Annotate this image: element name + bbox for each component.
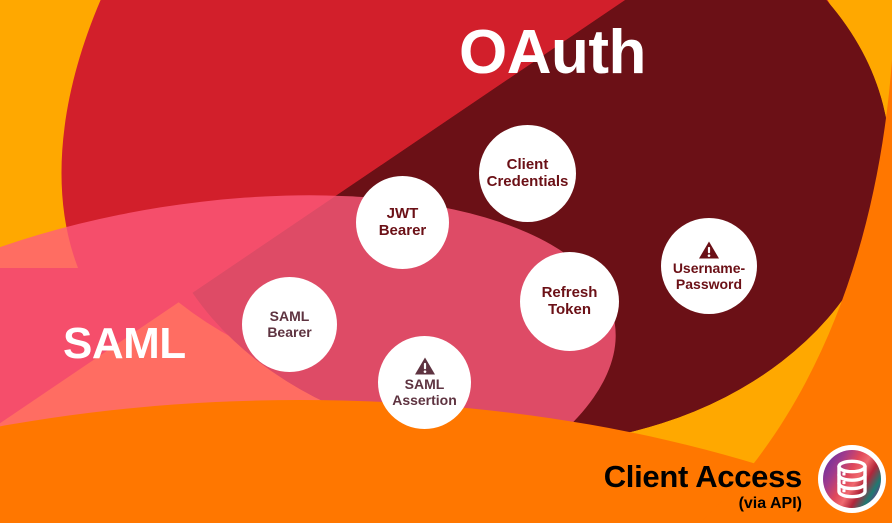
client-access-block: Client Access (via API) — [604, 461, 802, 513]
bubble-line-1: JWT — [384, 206, 422, 223]
bubble-saml-bearer[interactable]: SAML Bearer — [242, 277, 337, 372]
bubble-username-password[interactable]: Username- Password — [661, 218, 757, 314]
client-access-label: Client Access — [604, 461, 802, 494]
bubble-saml-assertion[interactable]: SAML Assertion — [378, 336, 471, 429]
warning-triangle-icon — [414, 356, 436, 376]
oauth-section-label: OAuth — [459, 22, 646, 84]
bubble-line-2: Bearer — [376, 223, 430, 240]
bubble-line-1: Refresh — [539, 285, 601, 302]
warning-triangle-icon — [698, 240, 720, 260]
bubble-line-1: Username- — [670, 261, 748, 277]
bubble-line-2: Bearer — [264, 325, 314, 341]
bubble-line-1: SAML — [267, 309, 313, 325]
bubble-jwt-bearer[interactable]: JWT Bearer — [356, 176, 449, 269]
bubble-line-2: Credentials — [484, 174, 572, 191]
bubble-line-1: SAML — [402, 377, 448, 393]
bubble-line-2: Password — [673, 277, 745, 293]
bubble-line-1: Client — [504, 157, 552, 174]
bubble-refresh-token[interactable]: Refresh Token — [520, 252, 619, 351]
database-icon — [817, 444, 887, 514]
bubble-line-2: Token — [545, 302, 594, 319]
background-shapes — [0, 0, 892, 523]
bubble-client-credentials[interactable]: Client Credentials — [479, 125, 576, 222]
saml-section-label: SAML — [63, 322, 186, 366]
via-api-label: (via API) — [604, 495, 802, 513]
bubble-line-2: Assertion — [389, 393, 460, 409]
diagram-canvas: OAuth SAML Client Credentials JWT Bearer… — [0, 0, 892, 523]
